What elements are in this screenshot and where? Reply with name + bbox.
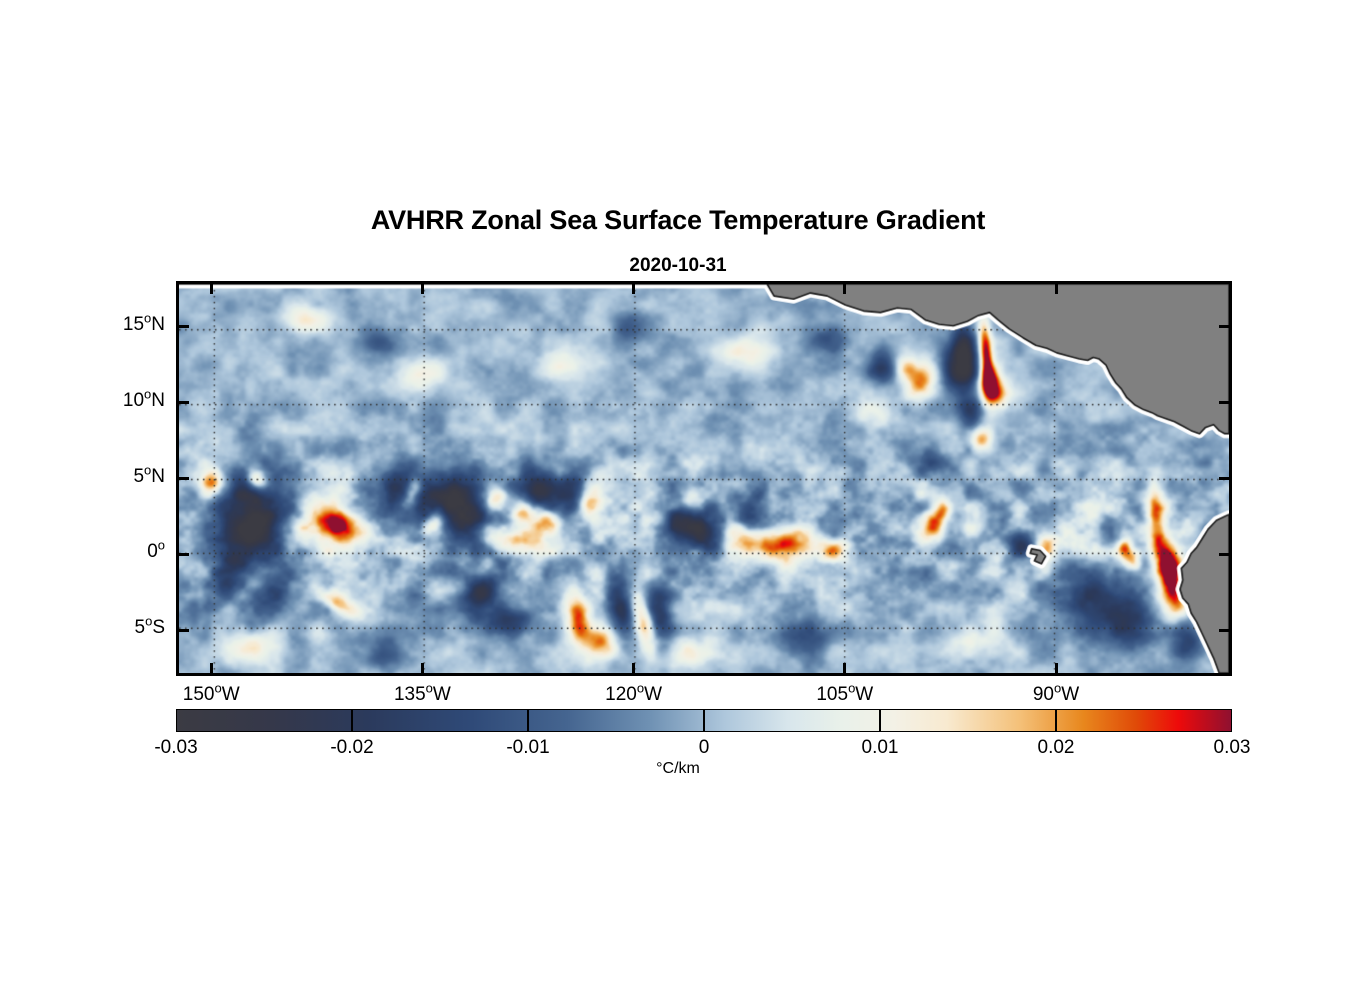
- colorbar-unit-label: °C/km: [0, 760, 1356, 778]
- x-axis-label-4: 90oW: [1033, 684, 1079, 706]
- colorbar-label-6: 0.03: [1214, 737, 1251, 759]
- land-and-grid-overlay: [179, 284, 1229, 673]
- y-axis-label-1: 10oN: [60, 390, 165, 412]
- y-axis-tick: [1219, 477, 1229, 480]
- y-axis-tick: [1219, 401, 1229, 404]
- y-axis-tick: [1219, 325, 1229, 328]
- x-axis-label-2: 120oW: [605, 684, 662, 706]
- x-axis-tick: [1055, 663, 1058, 673]
- colorbar-label-5: 0.02: [1038, 737, 1075, 759]
- x-axis-label-1: 135oW: [394, 684, 451, 706]
- colorbar-tick: [1055, 709, 1057, 732]
- colorbar-label-0: -0.03: [154, 737, 197, 759]
- figure-root: AVHRR Zonal Sea Surface Temperature Grad…: [0, 0, 1356, 1000]
- colorbar-tick: [351, 709, 353, 732]
- map-axes: [176, 281, 1232, 676]
- y-axis-tick: [179, 401, 189, 404]
- x-axis-tick: [1055, 284, 1058, 294]
- y-axis-tick: [1219, 553, 1229, 556]
- colorbar-tick: [703, 709, 705, 732]
- colorbar-label-1: -0.02: [330, 737, 373, 759]
- y-axis-label-3: 0o: [60, 541, 165, 563]
- x-axis-tick: [632, 663, 635, 673]
- x-axis-tick: [843, 663, 846, 673]
- colorbar-label-3: 0: [699, 737, 710, 759]
- x-axis-tick: [210, 663, 213, 673]
- x-axis-tick: [210, 284, 213, 294]
- x-axis-tick: [632, 284, 635, 294]
- page-title: AVHRR Zonal Sea Surface Temperature Grad…: [0, 205, 1356, 236]
- y-axis-tick: [179, 629, 189, 632]
- colorbar-tick: [527, 709, 529, 732]
- y-axis-tick: [179, 325, 189, 328]
- colorbar-label-4: 0.01: [862, 737, 899, 759]
- y-axis-label-0: 15oN: [60, 314, 165, 336]
- x-axis-tick: [843, 284, 846, 294]
- y-axis-tick: [179, 477, 189, 480]
- page-subtitle: 2020-10-31: [0, 255, 1356, 277]
- x-axis-label-3: 105oW: [816, 684, 873, 706]
- x-axis-tick: [421, 663, 424, 673]
- y-axis-label-4: 5oS: [60, 617, 165, 639]
- y-axis-label-2: 5oN: [60, 466, 165, 488]
- colorbar-tick: [879, 709, 881, 732]
- y-axis-tick: [1219, 629, 1229, 632]
- x-axis-tick: [421, 284, 424, 294]
- y-axis-tick: [179, 553, 189, 556]
- x-axis-label-0: 150oW: [183, 684, 240, 706]
- colorbar-label-2: -0.01: [506, 737, 549, 759]
